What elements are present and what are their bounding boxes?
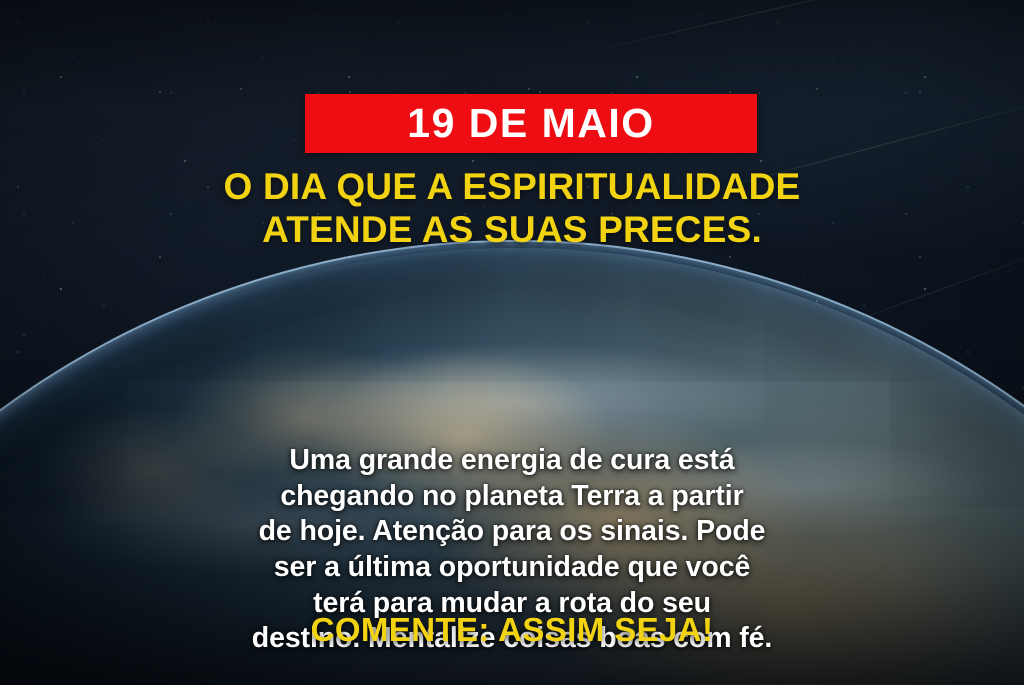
date-banner-label: 19 DE MAIO <box>407 103 654 144</box>
call-to-action-text: COMENTE: ASSIM SEJA! <box>0 612 1024 648</box>
date-banner: 19 DE MAIO <box>305 94 757 153</box>
poster-content: 19 DE MAIO O DIA QUE A ESPIRITUALIDADE A… <box>0 0 1024 685</box>
body-line-3: de hoje. Atenção para os sinais. Pode <box>54 514 970 550</box>
headline-line-2: ATENDE AS SUAS PRECES. <box>28 209 996 252</box>
headline: O DIA QUE A ESPIRITUALIDADE ATENDE AS SU… <box>0 166 1024 252</box>
body-line-4: ser a última oportunidade que você <box>54 550 970 586</box>
headline-line-1: O DIA QUE A ESPIRITUALIDADE <box>28 166 996 209</box>
body-line-2: chegando no planeta Terra a partir <box>54 479 970 515</box>
poster-image: 19 DE MAIO O DIA QUE A ESPIRITUALIDADE A… <box>0 0 1024 685</box>
body-line-1: Uma grande energia de cura está <box>54 443 970 479</box>
